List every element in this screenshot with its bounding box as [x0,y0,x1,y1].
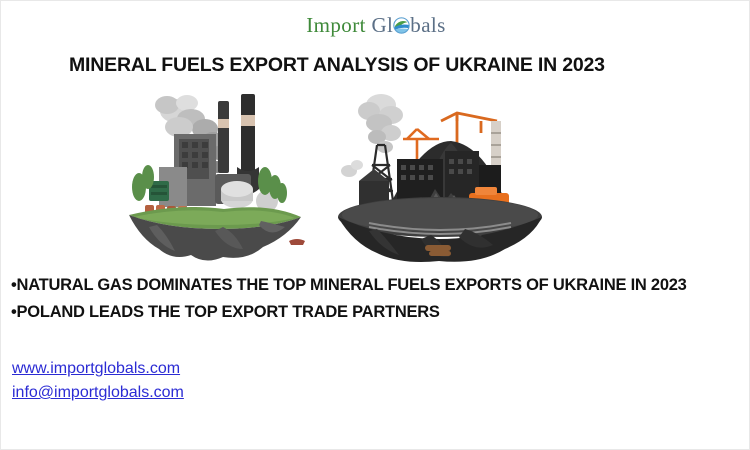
illustration-row [1,89,750,264]
contact-block: www.importglobals.com info@importglobals… [12,357,184,405]
list-item: •POLAND LEADS THE TOP EXPORT TRADE PARTN… [11,299,687,326]
page-title: MINERAL FUELS EXPORT ANALYSIS OF UKRAINE… [69,54,605,77]
key-findings-list: •NATURAL GAS DOMINATES THE TOP MINERAL F… [11,272,687,326]
brand-name-gl: Gl [371,13,393,37]
brand-logo: Import Gl bals [1,13,750,38]
power-plant-island-illustration [119,89,319,264]
globe-icon [393,17,410,34]
coal-mine-island-illustration [329,89,551,264]
slide-canvas: Import Gl bals MINERAL FUELS EXPORT ANAL… [0,0,750,450]
list-item-label: POLAND LEADS THE TOP EXPORT TRADE PARTNE… [17,303,440,321]
list-item-label: NATURAL GAS DOMINATES THE TOP MINERAL FU… [17,276,687,294]
website-link[interactable]: www.importglobals.com [12,357,184,381]
brand-name-bals: bals [410,13,445,37]
list-item: •NATURAL GAS DOMINATES THE TOP MINERAL F… [11,272,687,299]
email-link[interactable]: info@importglobals.com [12,381,184,405]
brand-name-import: Import [306,13,366,37]
